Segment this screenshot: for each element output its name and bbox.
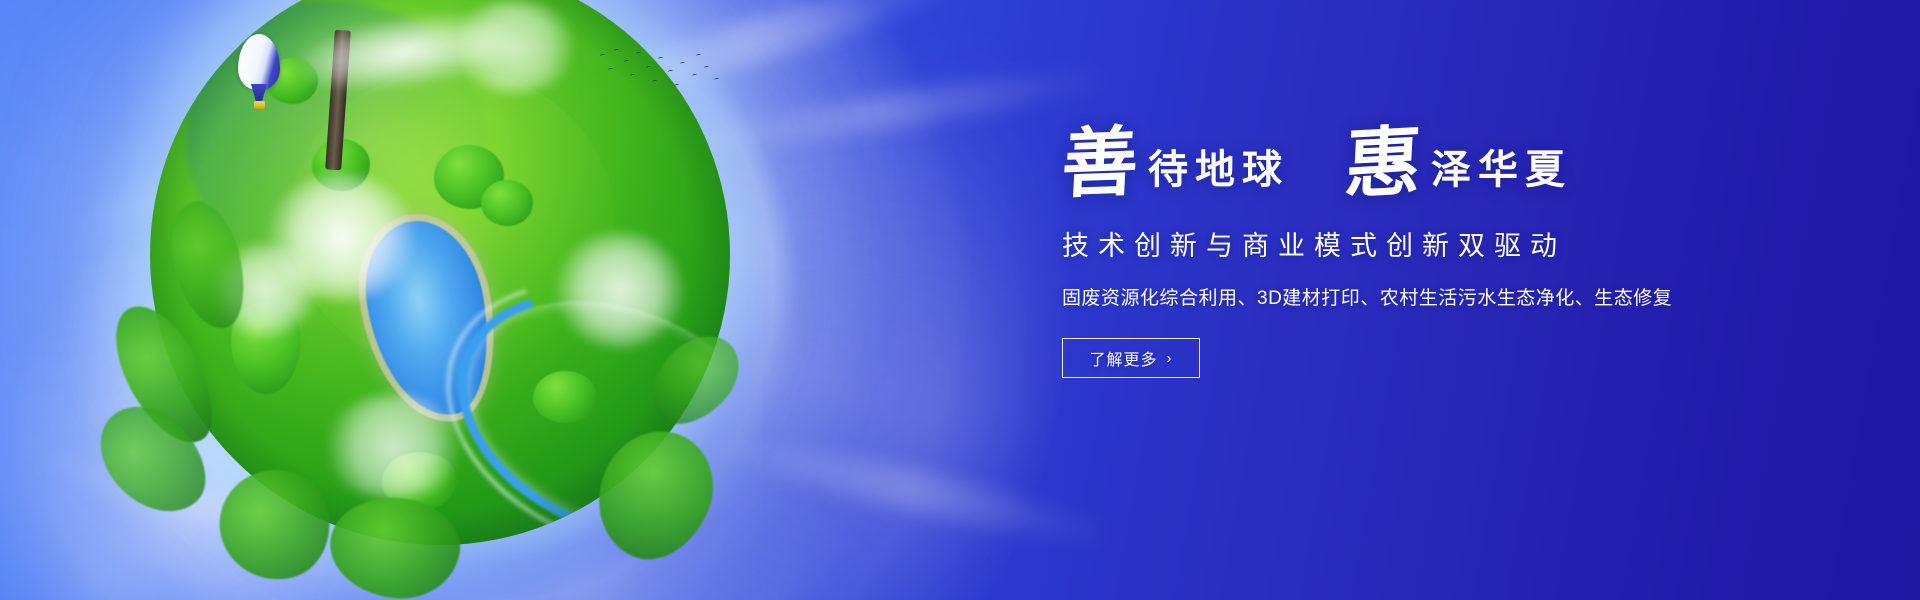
bird-icon — [600, 54, 605, 58]
balloon-taper — [251, 84, 267, 102]
bird-icon — [658, 57, 663, 61]
bird-icon — [636, 52, 641, 56]
learn-more-button[interactable]: 了解更多 › — [1062, 338, 1200, 378]
bird-icon — [692, 74, 697, 78]
hero-subtitle: 技术创新与商业模式创新双驱动 — [1062, 224, 1722, 263]
headline-brush-char-2: 惠 — [1343, 124, 1427, 203]
headline-brush-char-1: 善 — [1060, 125, 1144, 202]
bird-icon — [668, 70, 673, 74]
bird-icon — [652, 80, 657, 84]
bird-icon — [674, 84, 679, 88]
bird-icon — [680, 62, 685, 66]
bird-icon — [646, 66, 651, 70]
chevron-right-icon: › — [1167, 351, 1173, 366]
bird-flock — [596, 48, 726, 92]
hot-air-balloon — [238, 34, 280, 112]
balloon-basket — [254, 101, 265, 109]
balloon-envelope — [238, 34, 280, 90]
bird-icon — [624, 60, 629, 64]
bird-icon — [714, 78, 719, 82]
headline-tail-2: 泽华夏 — [1425, 150, 1572, 200]
headline-tail-1: 待地球 — [1142, 150, 1289, 200]
hero-headline: 善 待地球 惠 泽华夏 — [1062, 126, 1722, 200]
hero-banner: 善 待地球 惠 泽华夏 技术创新与商业模式创新双驱动 固废资源化综合利用、3D建… — [0, 0, 1920, 600]
bird-icon — [696, 54, 701, 58]
hero-description: 固废资源化综合利用、3D建材打印、农村生活污水生态净化、生态修复 — [1062, 283, 1722, 310]
learn-more-label: 了解更多 — [1089, 346, 1157, 370]
hero-content: 善 待地球 惠 泽华夏 技术创新与商业模式创新双驱动 固废资源化综合利用、3D建… — [1062, 126, 1722, 378]
bird-icon — [704, 66, 709, 70]
cloud-streak — [701, 423, 1119, 556]
bird-icon — [630, 74, 635, 78]
bird-icon — [608, 68, 613, 72]
bird-icon — [614, 49, 619, 53]
